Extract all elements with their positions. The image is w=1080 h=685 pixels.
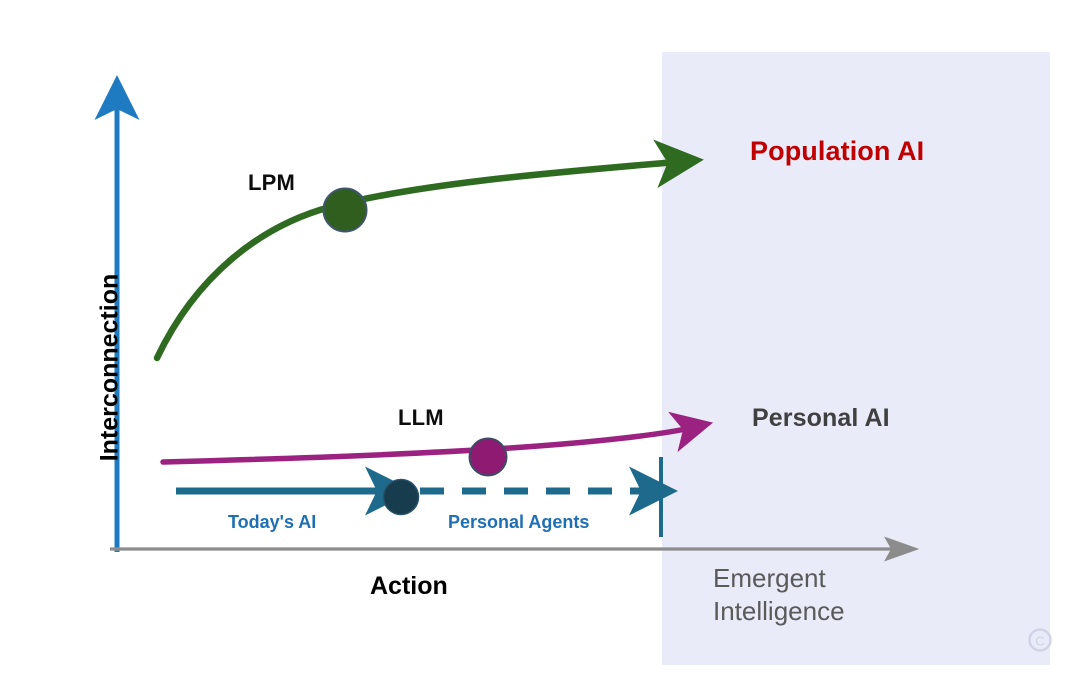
lpm-node (324, 189, 367, 232)
svg-text:C: C (1035, 634, 1044, 649)
population-ai-label: Population AI (750, 138, 924, 165)
personal-ai-curve (163, 428, 690, 462)
population-ai-curve (157, 162, 676, 358)
llm-node (470, 439, 507, 476)
emergent-line-1: Emergent (713, 563, 826, 593)
llm-label: LLM (398, 407, 444, 429)
personal-agents-label: Personal Agents (448, 513, 589, 531)
todays-ai-label: Today's AI (228, 513, 316, 531)
emergent-intelligence-label: Emergent Intelligence (713, 562, 933, 629)
personal-ai-label: Personal AI (752, 406, 890, 431)
lpm-label: LPM (248, 172, 295, 194)
y-axis-label: Interconnection (98, 218, 123, 518)
todays-ai-node (384, 480, 419, 515)
x-axis-label: Action (370, 574, 448, 599)
emergent-line-2: Intelligence (713, 596, 845, 626)
